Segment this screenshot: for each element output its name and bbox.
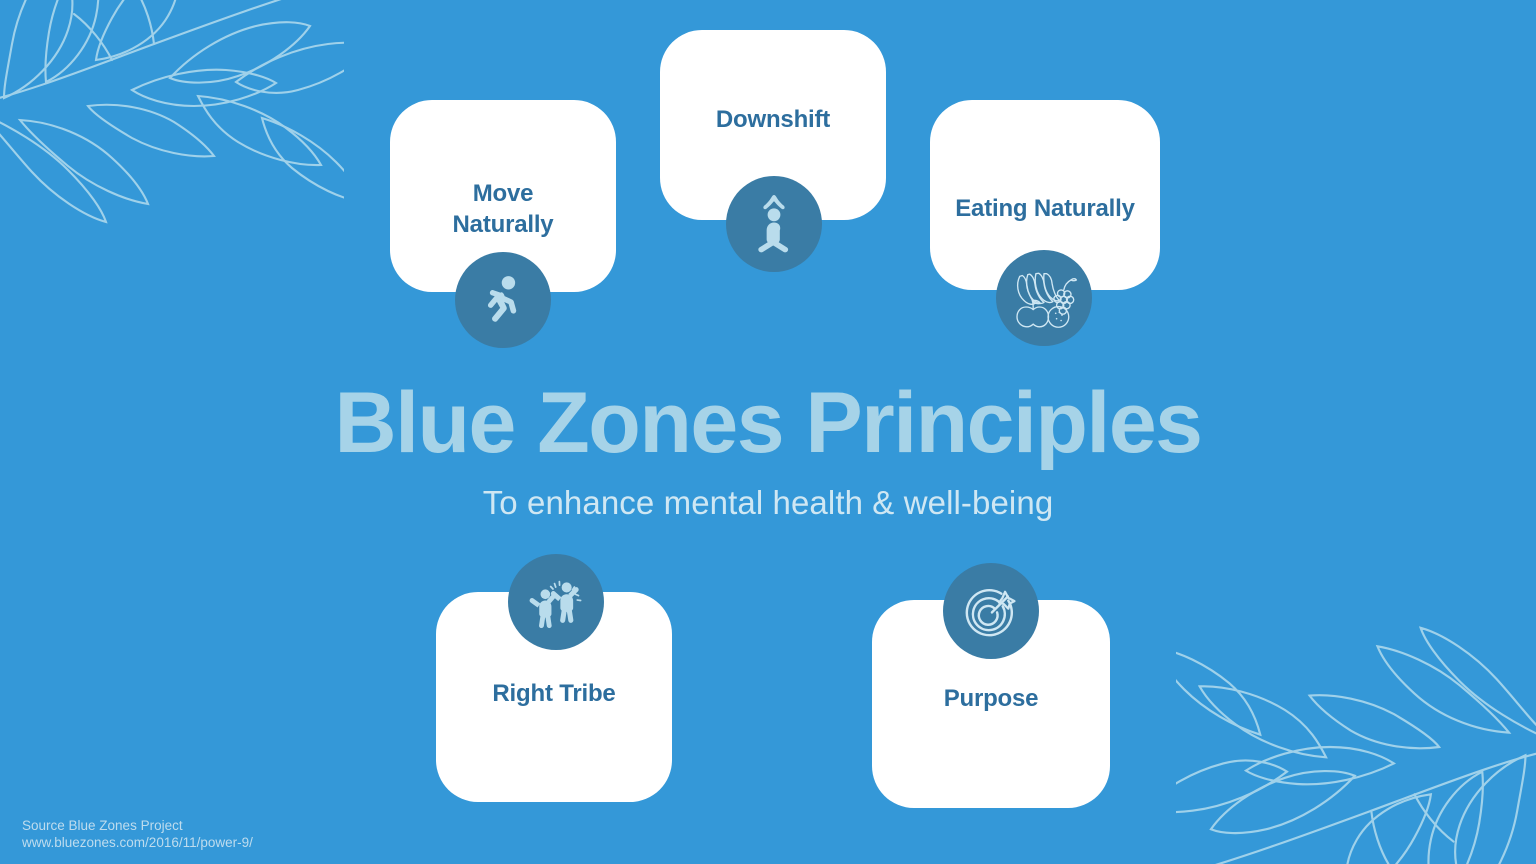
card-label-downshift: Downshift [702,105,844,136]
running-person-icon [474,271,532,329]
celebrating-people-icon-badge[interactable] [508,554,604,650]
target-arrow-icon-badge[interactable] [943,563,1039,659]
celebrating-people-icon [525,571,587,633]
fruits-icon [1008,267,1080,329]
card-label-eating-naturally: Eating Naturally [941,194,1149,225]
card-label-purpose: Purpose [930,684,1053,715]
card-label-move-naturally: Move Naturally [439,179,568,240]
meditation-yoga-icon-badge[interactable] [726,176,822,272]
source-credit: Source Blue Zones Project www.bluezones.… [22,818,253,852]
title-block: Blue Zones Principles To enhance mental … [0,378,1536,522]
leaf-branch-decoration-top-left [0,0,344,226]
target-arrow-icon [961,581,1021,641]
source-line-2: www.bluezones.com/2016/11/power-9/ [22,835,253,852]
source-line-1: Source Blue Zones Project [22,818,253,835]
card-label-right-tribe: Right Tribe [478,679,629,710]
meditation-yoga-icon [743,193,805,255]
page-title: Blue Zones Principles [0,378,1536,468]
fruits-icon-badge[interactable] [996,250,1092,346]
page-subtitle: To enhance mental health & well-being [0,484,1536,522]
slide-canvas: Move Naturally Downshift Eating Naturall… [0,0,1536,864]
leaf-branch-decoration-bottom-right [1176,622,1536,864]
running-person-icon-badge[interactable] [455,252,551,348]
